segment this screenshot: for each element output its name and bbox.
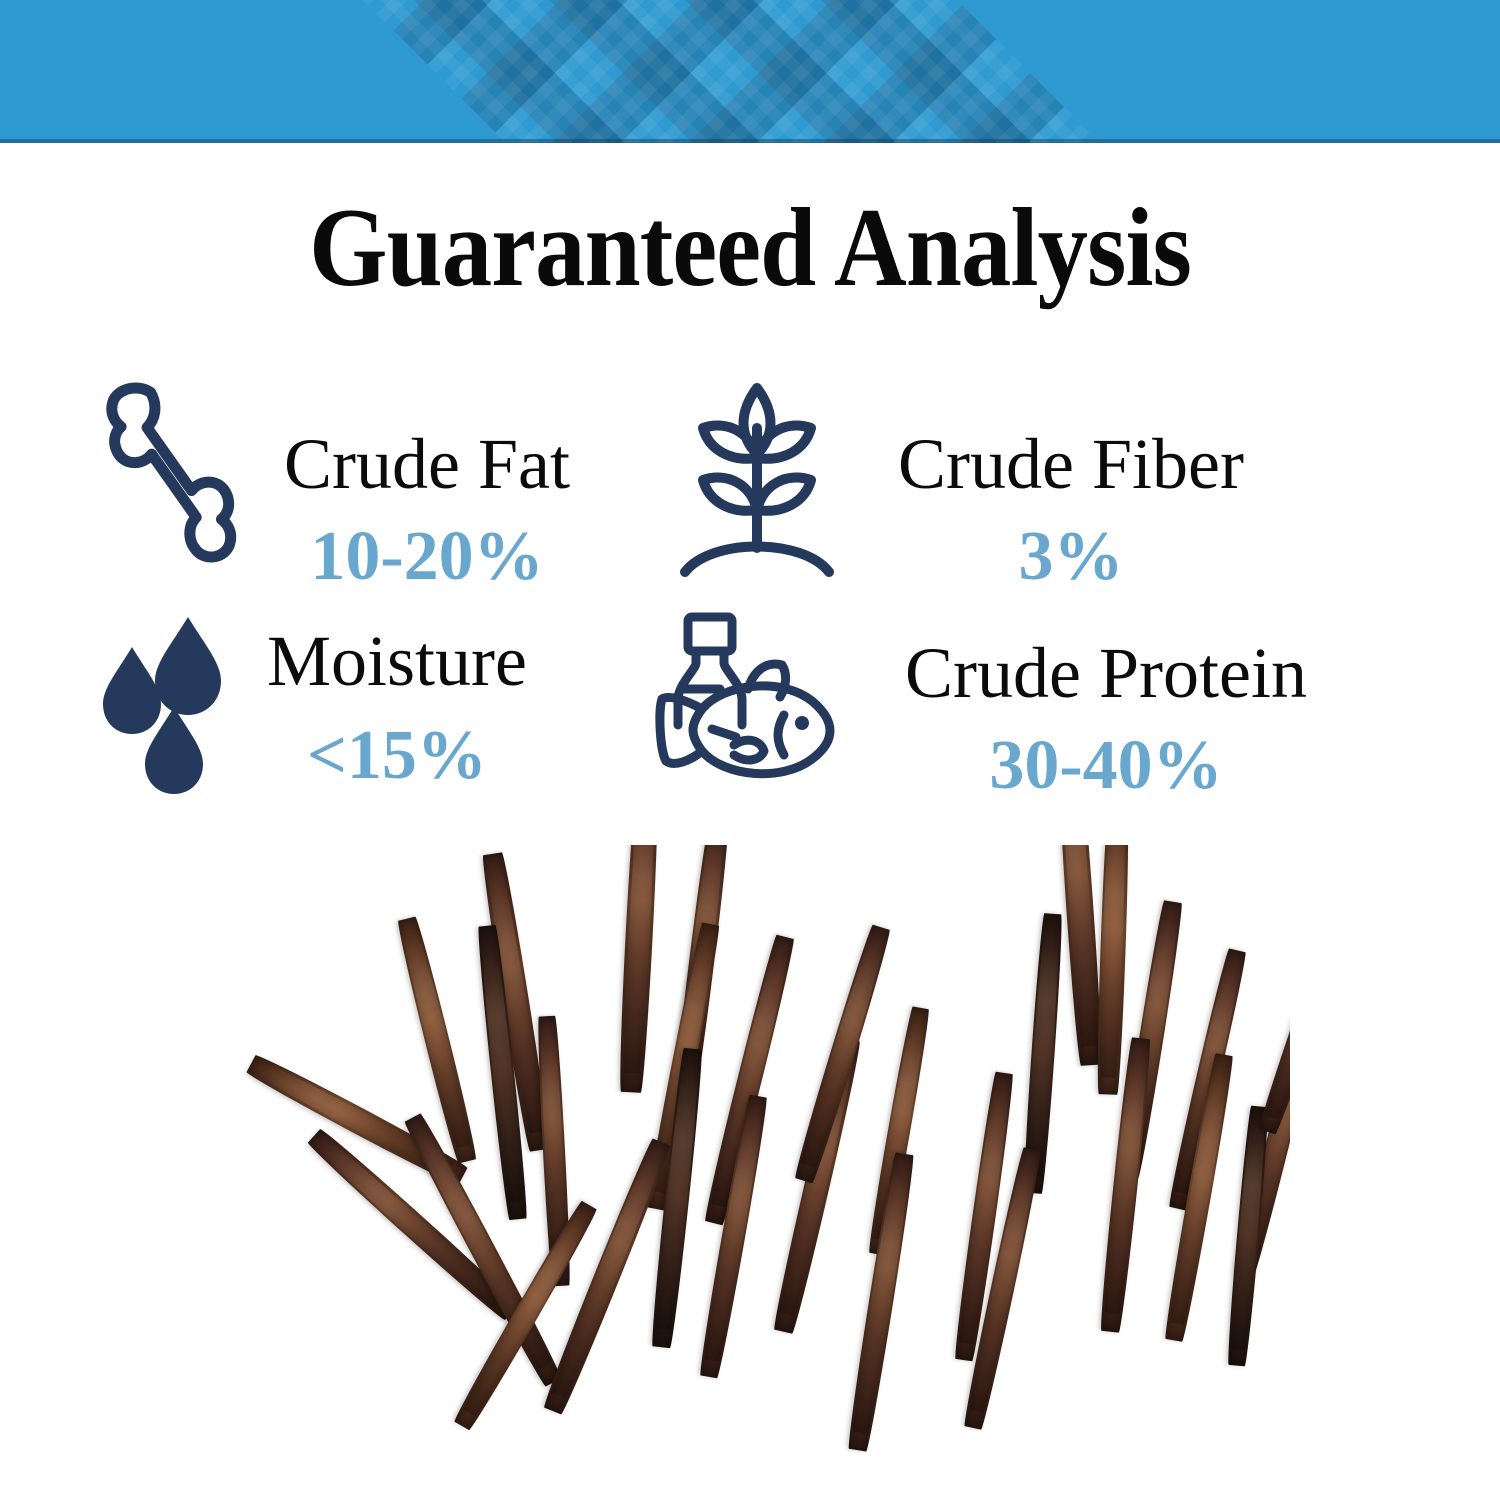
page-title: Guaranteed Analysis	[75, 190, 1425, 308]
stat-value-crude-protein: 30-40%	[989, 731, 1222, 801]
bone-icon	[100, 370, 260, 585]
stat-value-moisture: <15%	[307, 721, 487, 791]
treat-stick	[792, 923, 892, 1183]
product-photo-dog-treats	[215, 845, 1290, 1500]
stat-value-crude-fat: 10-20%	[310, 522, 543, 592]
stat-label-moisture: Moisture	[267, 625, 527, 697]
guaranteed-analysis-grid: Crude Fat 10-20%	[0, 365, 1500, 825]
stat-text-crude-fat: Crude Fat 10-20%	[284, 428, 570, 592]
stat-item-crude-fat: Crude Fat 10-20%	[0, 365, 640, 605]
stat-text-moisture: Moisture <15%	[267, 625, 527, 791]
stat-item-crude-fiber: Crude Fiber 3%	[640, 365, 1500, 605]
stat-label-crude-fat: Crude Fat	[284, 428, 570, 500]
water-droplets-icon	[95, 605, 245, 795]
stat-text-crude-protein: Crude Protein 30-40%	[905, 637, 1307, 801]
stat-item-moisture: Moisture <15%	[0, 605, 640, 825]
treat-stick	[617, 845, 660, 1093]
treat-stick	[771, 1036, 863, 1334]
stat-item-crude-protein: Crude Protein 30-40%	[640, 605, 1500, 825]
gingham-banner	[0, 0, 1500, 143]
banner-bottom-edge	[0, 139, 1500, 143]
stat-label-crude-protein: Crude Protein	[905, 637, 1307, 709]
treat-stick	[1055, 845, 1104, 1066]
stat-text-crude-fiber: Crude Fiber 3%	[898, 428, 1244, 592]
wheat-plant-icon	[665, 370, 850, 585]
plaid-pattern-fine	[0, 0, 1500, 143]
treat-stick	[1256, 892, 1290, 1136]
fish-oil-bottle-icon	[650, 605, 865, 800]
treat-stick	[1095, 845, 1130, 1095]
stat-value-crude-fiber: 3%	[1018, 522, 1123, 592]
stat-label-crude-fiber: Crude Fiber	[898, 428, 1244, 500]
